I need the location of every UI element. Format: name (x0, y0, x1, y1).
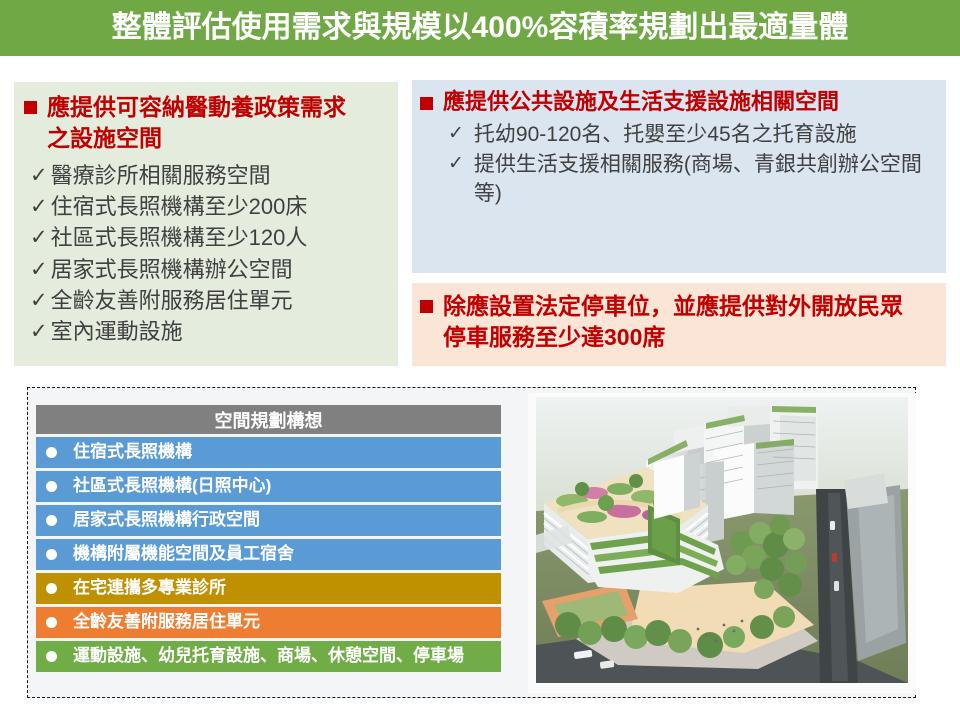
list-item: ✓ 居家式長照機構辦公空間 (30, 255, 390, 285)
check-icon: ✓ (30, 286, 48, 315)
table-row-label: 運動設施、幼兒托育設施、商場、休憩空間、停車場 (73, 645, 495, 667)
blue-box-heading: 應提供公共設施及生活支援設施相關空間 (443, 88, 839, 117)
list-item-label: 全齡友善附服務居住單元 (51, 286, 293, 316)
check-icon: ✓ (30, 317, 48, 346)
list-item-label: 居家式長照機構辦公空間 (51, 255, 293, 285)
list-item: ✓ 室內運動設施 (30, 317, 390, 347)
list-item-label: 醫療診所相關服務空間 (51, 161, 271, 191)
table-row: 運動設施、幼兒托育設施、商場、休憩空間、停車場 (36, 641, 501, 672)
table-row-label: 機構附屬機能空間及員工宿舍 (73, 543, 495, 565)
list-item: ✓ 社區式長照機構至少120人 (30, 223, 390, 253)
dot-bullet-icon (46, 583, 57, 594)
list-item: ✓ 提供生活支援相關服務(商場、青銀共創辦公空間等) (448, 151, 938, 209)
table-row-label: 社區式長照機構(日照中心) (73, 475, 495, 497)
dot-bullet-icon (46, 481, 57, 492)
table-row: 居家式長照機構行政空間 (36, 505, 501, 536)
list-item-label: 住宿式長照機構至少200床 (51, 192, 308, 222)
check-icon: ✓ (448, 121, 464, 148)
left-box-heading: 應提供可容納醫動養政策需求之設施空間 (47, 92, 365, 155)
architectural-rendering-image (528, 393, 916, 693)
list-item: ✓ 住宿式長照機構至少200床 (30, 192, 390, 222)
dot-bullet-icon (46, 617, 57, 628)
square-bullet-icon (420, 97, 433, 110)
list-item: ✓ 醫療診所相關服務空間 (30, 161, 390, 191)
peach-box-heading: 除應設置法定停車位，並應提供對外開放民眾停車服務至少達300席 (443, 291, 913, 354)
requirements-box-public-facilities: 應提供公共設施及生活支援設施相關空間 ✓ 托幼90-120名、托嬰至少45名之托… (412, 80, 946, 273)
left-box-heading-row: 應提供可容納醫動養政策需求之設施空間 (24, 92, 390, 155)
table-row: 在宅連攜多專業診所 (36, 573, 501, 604)
dot-bullet-icon (46, 651, 57, 662)
blue-box-heading-row: 應提供公共設施及生活支援設施相關空間 (420, 88, 938, 117)
table-row-label: 住宿式長照機構 (73, 441, 495, 463)
table-row: 住宿式長照機構 (36, 437, 501, 468)
page-title: 整體評估使用需求與規模以400%容積率規劃出最適量體 (112, 13, 849, 43)
table-row: 機構附屬機能空間及員工宿舍 (36, 539, 501, 570)
table-row-label: 居家式長照機構行政空間 (73, 509, 495, 531)
rendering-svg (528, 393, 916, 693)
list-item: ✓ 托幼90-120名、托嬰至少45名之托育設施 (448, 121, 938, 150)
check-icon: ✓ (30, 161, 48, 190)
space-planning-table: 空間規劃構想 住宿式長照機構 社區式長照機構(日照中心) 居家式長照機構行政空間… (36, 405, 501, 675)
requirements-box-parking: 除應設置法定停車位，並應提供對外開放民眾停車服務至少達300席 (412, 283, 946, 366)
list-item: ✓ 全齡友善附服務居住單元 (30, 286, 390, 316)
requirements-box-care-facilities: 應提供可容納醫動養政策需求之設施空間 ✓ 醫療診所相關服務空間 ✓ 住宿式長照機… (14, 82, 398, 366)
list-item-label: 社區式長照機構至少120人 (51, 223, 308, 253)
table-header: 空間規劃構想 (36, 405, 501, 434)
square-bullet-icon (24, 101, 37, 114)
peach-box-heading-row: 除應設置法定停車位，並應提供對外開放民眾停車服務至少達300席 (420, 291, 938, 354)
check-icon: ✓ (448, 151, 464, 178)
list-item-label: 托幼90-120名、托嬰至少45名之托育設施 (474, 121, 857, 150)
dot-bullet-icon (46, 515, 57, 526)
table-row-label: 在宅連攜多專業診所 (73, 577, 495, 599)
blue-box-list: ✓ 托幼90-120名、托嬰至少45名之托育設施 ✓ 提供生活支援相關服務(商場… (420, 121, 938, 209)
square-bullet-icon (420, 300, 433, 313)
left-box-list: ✓ 醫療診所相關服務空間 ✓ 住宿式長照機構至少200床 ✓ 社區式長照機構至少… (24, 161, 390, 348)
check-icon: ✓ (30, 223, 48, 252)
check-icon: ✓ (30, 255, 48, 284)
table-row: 全齡友善附服務居住單元 (36, 607, 501, 638)
check-icon: ✓ (30, 192, 48, 221)
slide-root: 整體評估使用需求與規模以400%容積率規劃出最適量體 應提供可容納醫動養政策需求… (0, 0, 960, 720)
table-row: 社區式長照機構(日照中心) (36, 471, 501, 502)
dot-bullet-icon (46, 549, 57, 560)
table-row-label: 全齡友善附服務居住單元 (73, 611, 495, 633)
dot-bullet-icon (46, 447, 57, 458)
list-item-label: 提供生活支援相關服務(商場、青銀共創辦公空間等) (474, 151, 938, 209)
list-item-label: 室內運動設施 (51, 317, 183, 347)
slide-title-banner: 整體評估使用需求與規模以400%容積率規劃出最適量體 (0, 0, 960, 56)
